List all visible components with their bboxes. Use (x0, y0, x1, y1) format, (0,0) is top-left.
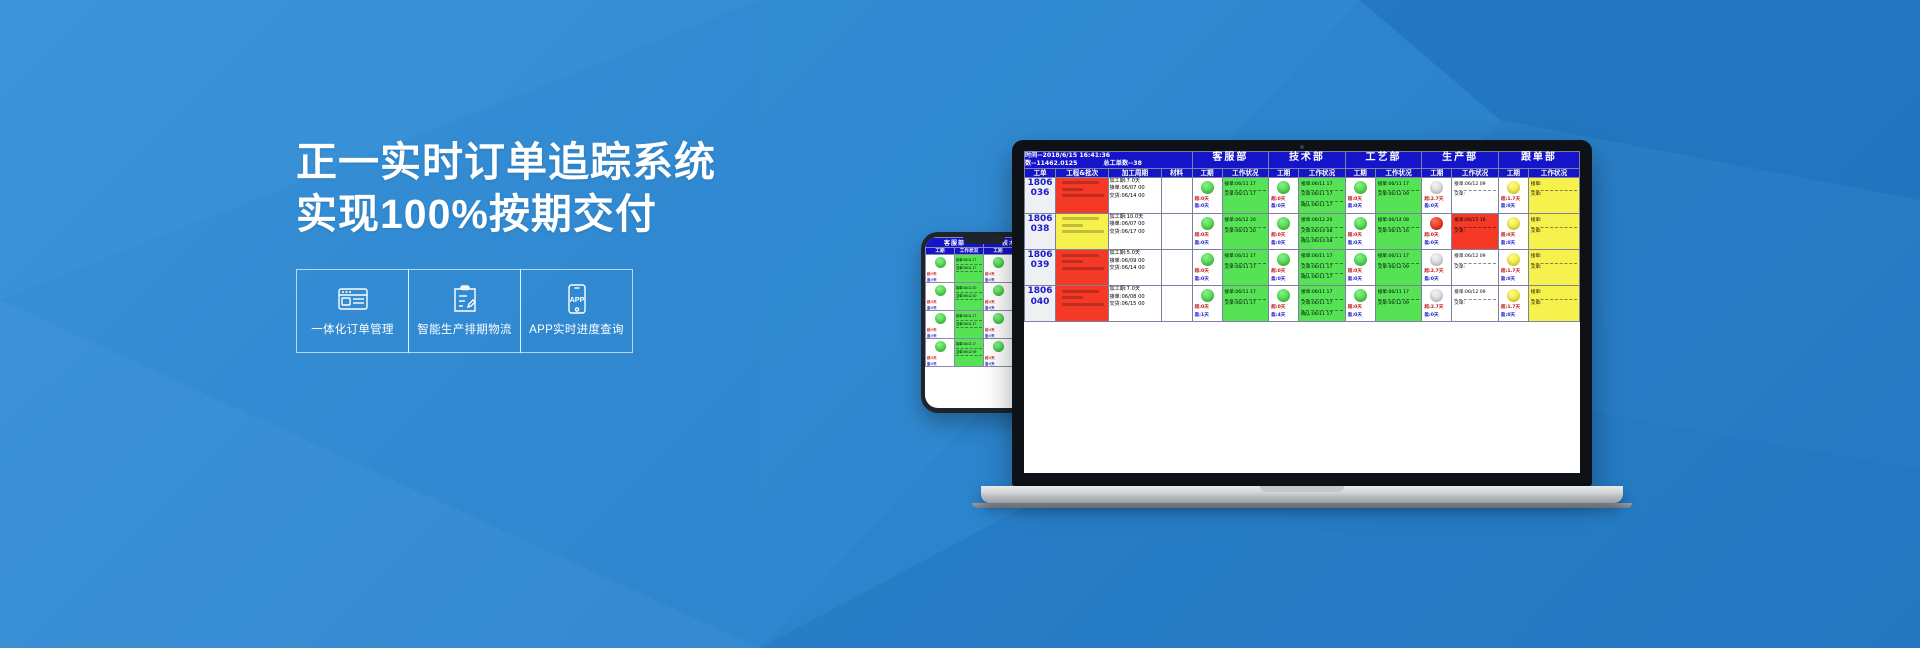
date-line: 接单:06/11 17 (1225, 289, 1267, 300)
id-card-icon (336, 284, 370, 314)
date-line: 接单:06/11 17 (956, 313, 982, 321)
order-id-line: 1806 (1025, 178, 1055, 188)
work-status-cell[interactable]: 接单:06/12 09交单: (1452, 250, 1499, 286)
duration-status-cell[interactable]: 超:0天盈:0天 (1269, 177, 1299, 213)
work-status-cell[interactable]: 接单:06/12 09交单: (1452, 286, 1499, 322)
feature-label: 一体化订单管理 (311, 321, 394, 337)
date-line: 接单:06/11 17 (1378, 253, 1420, 264)
date-line: 接单:06/11 17 (1301, 289, 1343, 300)
date-line: 交单: (1531, 300, 1577, 310)
over-tag: 超:0天 (1422, 232, 1451, 240)
status-dot-icon (1201, 181, 1214, 194)
phone-status-dot-cell: 超:0天 盈:0天 (926, 339, 955, 367)
feature-list: 一体化订单管理 智能生产排期物流 (296, 269, 716, 353)
date-line: 接单: (1531, 289, 1577, 300)
remain-tag: 盈:4天 (1269, 312, 1298, 320)
date-line: 交单:06/11 17 (956, 265, 982, 273)
dept-header-production: 生产部 (1422, 152, 1499, 169)
remain-tag: 盈:0天 (1422, 276, 1451, 284)
order-id-cell: 1806040 (1025, 286, 1056, 322)
feature-label: APP实时进度查询 (529, 321, 624, 337)
over-tag: 超:1.7天 (1499, 304, 1528, 312)
dept-header-craft: 工艺部 (1345, 152, 1422, 169)
project-batch-cell (1056, 177, 1109, 213)
table-row[interactable]: 1806039加工期:5.0天接单:06/09 00交货:06/14 00超:0… (1025, 250, 1580, 286)
order-id-cell: 1806039 (1025, 250, 1056, 286)
dept-header-customer-service: 客服部 (1192, 152, 1269, 169)
duration-status-cell[interactable]: 超:0天盈:4天 (1269, 286, 1299, 322)
svg-text:APP: APP (569, 295, 584, 304)
status-dot-icon (1201, 217, 1214, 230)
phone-status-dot-cell: 超:0天 盈:0天 (926, 255, 955, 283)
phone-dates-cell: 接单:06/11 17 交单:06/11 17 (955, 255, 984, 283)
col-header-status: 工作状况 (1452, 168, 1499, 177)
date-line: 接单:06/14 08 (1378, 217, 1420, 228)
work-status-cell[interactable]: 接单:交单: (1528, 286, 1579, 322)
over-tag: 超:0天 (1193, 268, 1222, 276)
phone-dates-cell: 接单:06/11 17 交单:06/11 17 (955, 311, 984, 339)
col-header-status: 工作状况 (1299, 168, 1346, 177)
duration-status-cell[interactable]: 超:0天盈:0天 (1269, 250, 1299, 286)
hero-copy: 正一实时订单追踪系统 实现100%按期交付 一体化订单管理 (296, 136, 716, 353)
remain-tag: 盈:1天 (1193, 312, 1222, 320)
material-cell (1161, 213, 1192, 249)
cycle-line: 加工期:5.0天 (1109, 250, 1160, 258)
work-status-cell[interactable]: 接单:06/15 16交单: (1452, 213, 1499, 249)
phone-col-header: 工期 (984, 248, 1013, 255)
date-line: 接单:06/12 09 (1454, 181, 1496, 192)
order-id-line: 036 (1025, 188, 1055, 198)
date-line: 交单:06/14 08 (1301, 228, 1343, 239)
col-header-project-batch: 工程&批次 (1056, 168, 1109, 177)
work-status-cell[interactable]: 接单:交单: (1528, 250, 1579, 286)
date-line: 交单:06/11 17 (1301, 264, 1343, 275)
date-line: 接单: (1531, 253, 1577, 264)
remain-tag: 盈:0天 (1346, 203, 1375, 211)
order-id-line: 1806 (1025, 214, 1055, 224)
duration-status-cell[interactable]: 超:1.7天盈:0天 (1498, 286, 1528, 322)
remain-tag: 盈:0天 (1499, 276, 1528, 284)
order-id-cell: 1806038 (1025, 213, 1056, 249)
date-line: 确认:06/11 17 (1301, 311, 1343, 321)
date-line: 接单:06/11 17 (1378, 289, 1420, 300)
over-tag: 超:1.7天 (1499, 196, 1528, 204)
material-cell (1161, 177, 1192, 213)
over-tag: 超:0天 (1193, 196, 1222, 204)
status-dot-icon (1430, 289, 1443, 302)
status-dot-icon (1354, 253, 1367, 266)
work-status-cell[interactable]: 接单:06/12 20交单:06/12 20 (1222, 213, 1269, 249)
duration-status-cell[interactable]: 超:1.7天盈:0天 (1498, 177, 1528, 213)
over-tag: 超:0天 (1346, 304, 1375, 312)
work-status-cell[interactable]: 接单:06/12 09交单: (1452, 177, 1499, 213)
col-header-duration: 工期 (1345, 168, 1375, 177)
material-cell (1161, 286, 1192, 322)
remain-tag: 盈:0天 (1346, 240, 1375, 248)
remain-tag: 盈:0天 (1499, 312, 1528, 320)
status-dot-icon (1430, 253, 1443, 266)
remain-tag: 盈:0天 (1193, 240, 1222, 248)
date-line: 接单:06/11 17 (1301, 181, 1343, 192)
webcam-icon (1300, 145, 1304, 149)
work-status-cell[interactable]: 接单:06/11 17交单:06/11 17 (1222, 250, 1269, 286)
cycle-line: 交货:06/14 00 (1109, 265, 1160, 273)
col-header-duration: 工期 (1422, 168, 1452, 177)
col-header-status: 工作状况 (1375, 168, 1422, 177)
phone-dates-cell: 接单:06/11 17 交单:06/12 09 (955, 339, 984, 367)
status-dot-icon (1354, 217, 1367, 230)
work-status-cell[interactable]: 接单:06/14 08交单:06/15 16 (1375, 213, 1422, 249)
over-tag: 超:0天 (1269, 268, 1298, 276)
cycle-line: 接单:06/09 00 (1109, 258, 1160, 266)
duration-status-cell[interactable]: 超:1.7天盈:0天 (1498, 250, 1528, 286)
date-line: 交单:06/11 17 (956, 321, 982, 329)
project-batch-cell (1056, 250, 1109, 286)
remain-tag: 盈:0天 (1346, 312, 1375, 320)
phone-col-header: 工期 (926, 248, 955, 255)
headline-line-2: 实现100%按期交付 (296, 188, 716, 240)
page-title: 正一实时订单追踪系统 实现100%按期交付 (296, 136, 716, 241)
work-status-cell[interactable]: 接单:06/11 17交单:06/12 09 (1375, 286, 1422, 322)
date-line: 接单: (1531, 217, 1577, 228)
over-tag: 超:0天 (1269, 196, 1298, 204)
date-line: 交单:06/12 09 (1378, 300, 1420, 310)
status-dot-green-icon (935, 257, 946, 268)
date-line: 交单: (1531, 264, 1577, 274)
feature-item-app-progress-query[interactable]: APP APP实时进度查询 (520, 269, 633, 353)
remain-tag: 盈:0天 (926, 304, 954, 310)
feature-item-order-management[interactable]: 一体化订单管理 (296, 269, 409, 353)
over-tag: 超:0天 (1269, 232, 1298, 240)
laptop-screen[interactable]: 时间--2018/6/15 16:41:36 数--11462.0125 总工单… (1024, 151, 1580, 473)
date-line: 接单:06/12 09 (1454, 289, 1496, 300)
table-row[interactable]: 1806038加工期:10.0天接单:06/07 00交货:06/17 00超:… (1025, 213, 1580, 249)
work-status-cell[interactable]: 接单:交单: (1528, 213, 1579, 249)
dashboard-meta-cell: 时间--2018/6/15 16:41:36 数--11462.0125 总工单… (1025, 152, 1193, 169)
remain-tag: 盈:0天 (1193, 276, 1222, 284)
date-line: 交单:06/12 09 (1378, 191, 1420, 201)
date-line: 接单:06/11 17 (1378, 181, 1420, 192)
date-line: 确认:06/11 17 (1301, 274, 1343, 284)
duration-status-cell[interactable]: 超:2.7天盈:0天 (1422, 286, 1452, 322)
duration-status-cell[interactable]: 超:0天盈:0天 (1192, 213, 1222, 249)
laptop-base (981, 486, 1623, 503)
table-row[interactable]: 1806040加工期:7.0天接单:06/08 00交货:06/15 00超:0… (1025, 286, 1580, 322)
work-status-cell[interactable]: 接单:06/11 17交单:06/11 17确认:06/11 17 (1299, 286, 1346, 322)
processing-cycle-cell: 加工期:7.0天接单:06/07 00交货:06/14 00 (1109, 177, 1161, 213)
project-batch-cell (1056, 286, 1109, 322)
status-dot-green-icon (935, 341, 946, 352)
col-header-status: 工作状况 (1222, 168, 1269, 177)
work-status-cell[interactable]: 接单:交单: (1528, 177, 1579, 213)
date-line: 交单:06/11 17 (1225, 264, 1267, 274)
status-dot-icon (1354, 181, 1367, 194)
duration-status-cell[interactable]: 超:0天盈:0天 (1269, 213, 1299, 249)
over-tag: 超:0天 (1269, 304, 1298, 312)
date-line: 交单: (1454, 300, 1496, 310)
mobile-app-icon: APP (560, 284, 594, 314)
date-line: 接单:06/11 17 (956, 257, 982, 265)
date-line: 接单:06/15 16 (1454, 217, 1496, 228)
phone-status-dot-cell: 超:0天 盈:0天 (984, 311, 1013, 339)
order-id-line: 040 (1025, 297, 1055, 307)
date-line: 交单: (1531, 228, 1577, 238)
over-tag: 超:2.7天 (1422, 196, 1451, 204)
laptop-foot (972, 503, 1632, 508)
processing-cycle-cell: 加工期:5.0天接单:06/09 00交货:06/14 00 (1109, 250, 1161, 286)
date-line: 交单: (1531, 191, 1577, 201)
remain-tag: 盈:0天 (1269, 240, 1298, 248)
remain-tag: 盈:0天 (1346, 276, 1375, 284)
order-id-line: 1806 (1025, 250, 1055, 260)
remain-tag: 盈:0天 (1422, 203, 1451, 211)
order-table-body: 1806036加工期:7.0天接单:06/07 00交货:06/14 00超:0… (1025, 177, 1580, 322)
dashboard-meta-row: 时间--2018/6/15 16:41:36 数--11462.0125 总工单… (1025, 152, 1580, 169)
dashboard-total-label: 总工单数--38 (1103, 160, 1142, 168)
remain-tag: 盈:0天 (984, 304, 1012, 310)
status-dot-icon (1201, 289, 1214, 302)
work-status-cell[interactable]: 接单:06/11 17交单:06/12 09 (1375, 177, 1422, 213)
status-dot-icon (1507, 289, 1520, 302)
status-dot-icon (1354, 289, 1367, 302)
remain-tag: 盈:0天 (1499, 203, 1528, 211)
status-dot-icon (1430, 217, 1443, 230)
remain-tag: 盈:0天 (984, 276, 1012, 282)
order-id-line: 1806 (1025, 286, 1055, 296)
status-dot-icon (1507, 253, 1520, 266)
material-cell (1161, 250, 1192, 286)
col-header-status: 工作状况 (1528, 168, 1579, 177)
table-row[interactable]: 1806036加工期:7.0天接单:06/07 00交货:06/14 00超:0… (1025, 177, 1580, 213)
col-header-duration: 工期 (1498, 168, 1528, 177)
cycle-line: 接单:06/07 00 (1109, 221, 1160, 229)
dashboard-count-label: 数--11462.0125 (1025, 160, 1077, 168)
remain-tag: 盈:0天 (926, 332, 954, 338)
date-line: 交单:06/11 17 (1225, 191, 1267, 201)
status-dot-green-icon (935, 285, 946, 296)
date-line: 交单: (1454, 191, 1496, 201)
duration-status-cell[interactable]: 超:0天盈:0天 (1345, 213, 1375, 249)
phone-dates-cell: 接单:06/12 20 交单:06/12 20 (955, 283, 984, 311)
duration-status-cell[interactable]: 超:0天盈:0天 (1192, 177, 1222, 213)
date-line: 接单:06/12 20 (956, 285, 982, 293)
col-header-cycle: 加工周期 (1109, 168, 1161, 177)
order-id-line: 039 (1025, 260, 1055, 270)
remain-tag: 盈:0天 (1499, 240, 1528, 248)
over-tag: 超:0天 (1193, 232, 1222, 240)
remain-tag: 盈:0天 (1269, 276, 1298, 284)
over-tag: 超:2.7天 (1422, 304, 1451, 312)
status-dot-icon (1277, 253, 1290, 266)
order-tracking-dashboard: 时间--2018/6/15 16:41:36 数--11462.0125 总工单… (1024, 151, 1580, 322)
status-dot-green-icon (993, 257, 1004, 268)
duration-status-cell[interactable]: 超:0天盈:0天 (1422, 213, 1452, 249)
laptop-device: 时间--2018/6/15 16:41:36 数--11462.0125 总工单… (1012, 140, 1592, 508)
phone-status-dot-cell: 超:0天 盈:0天 (926, 283, 955, 311)
work-status-cell[interactable]: 接单:06/11 17交单:06/12 09 (1375, 250, 1422, 286)
status-dot-green-icon (993, 313, 1004, 324)
duration-status-cell[interactable]: 超:0天盈:0天 (1498, 213, 1528, 249)
status-dot-icon (1277, 289, 1290, 302)
date-line: 接单:06/11 17 (1301, 253, 1343, 264)
remain-tag: 盈:0天 (984, 332, 1012, 338)
duration-status-cell[interactable]: 超:0天盈:0天 (1192, 250, 1222, 286)
remain-tag: 盈:0天 (926, 360, 954, 366)
project-batch-cell (1056, 213, 1109, 249)
col-header-order: 工单 (1025, 168, 1056, 177)
over-tag: 超:0天 (1346, 196, 1375, 204)
remain-tag: 盈:0天 (1269, 203, 1298, 211)
status-dot-green-icon (935, 313, 946, 324)
work-status-cell[interactable]: 接单:06/11 17交单:06/11 17确认:06/11 17 (1299, 177, 1346, 213)
dashboard-time-label: 时间--2018/6/15 16:41:36 (1025, 152, 1192, 160)
feature-item-production-scheduling[interactable]: 智能生产排期物流 (408, 269, 521, 353)
date-line: 接单:06/11 17 (1225, 181, 1267, 192)
work-status-cell[interactable]: 接单:06/12 20交单:06/14 08确认:06/14 08 (1299, 213, 1346, 249)
work-status-cell[interactable]: 接单:06/11 17交单:06/11 17 (1222, 286, 1269, 322)
duration-status-cell[interactable]: 超:0天盈:1天 (1192, 286, 1222, 322)
remain-tag: 盈:0天 (984, 360, 1012, 366)
laptop-lid: 时间--2018/6/15 16:41:36 数--11462.0125 总工单… (1012, 140, 1592, 486)
processing-cycle-cell: 加工期:7.0天接单:06/08 00交货:06/15 00 (1109, 286, 1161, 322)
cycle-line: 加工期:7.0天 (1109, 286, 1160, 294)
date-line: 确认:06/11 17 (1301, 202, 1343, 212)
date-line: 交单:06/12 09 (1378, 264, 1420, 274)
clipboard-list-icon (448, 284, 482, 314)
status-dot-icon (1507, 217, 1520, 230)
cycle-line: 交货:06/15 00 (1109, 301, 1160, 309)
over-tag: 超:1.7天 (1499, 268, 1528, 276)
date-line: 接单: (1531, 181, 1577, 192)
dashboard-column-header-row: 工单 工程&批次 加工周期 材料 工期 工作状况 工期 工作状况 工期 工作状况… (1025, 168, 1580, 177)
date-line: 交单:06/15 16 (1378, 228, 1420, 238)
duration-status-cell[interactable]: 超:2.7天盈:0天 (1422, 177, 1452, 213)
over-tag: 超:0天 (1499, 232, 1528, 240)
phone-notch (963, 237, 1005, 244)
remain-tag: 盈:0天 (1422, 240, 1451, 248)
col-header-material: 材料 (1161, 168, 1192, 177)
phone-col-header: 工作状况 (955, 248, 984, 255)
cycle-line: 交货:06/14 00 (1109, 193, 1160, 201)
status-dot-icon (1277, 217, 1290, 230)
date-line: 交单:06/11 17 (1301, 191, 1343, 202)
status-dot-icon (1507, 181, 1520, 194)
col-header-duration: 工期 (1192, 168, 1222, 177)
date-line: 接单:06/12 09 (1454, 253, 1496, 264)
date-line: 接单:06/11 17 (956, 341, 982, 349)
over-tag: 超:0天 (1193, 304, 1222, 312)
date-line: 交单:06/12 20 (956, 293, 982, 301)
date-line: 交单:06/12 20 (1225, 228, 1267, 238)
date-line: 交单:06/12 09 (956, 349, 982, 357)
remain-tag: 盈:0天 (1422, 312, 1451, 320)
phone-status-dot-cell: 超:0天 盈:0天 (984, 283, 1013, 311)
dept-header-merchandising: 跟单部 (1498, 152, 1579, 169)
order-id-cell: 1806036 (1025, 177, 1056, 213)
date-line: 接单:06/12 20 (1225, 217, 1267, 228)
status-dot-icon (1277, 181, 1290, 194)
dept-header-technology: 技术部 (1269, 152, 1346, 169)
cycle-line: 接单:06/07 00 (1109, 185, 1160, 193)
status-dot-green-icon (993, 341, 1004, 352)
order-table: 时间--2018/6/15 16:41:36 数--11462.0125 总工单… (1024, 151, 1580, 322)
over-tag: 超:0天 (1346, 232, 1375, 240)
remain-tag: 盈:0天 (926, 276, 954, 282)
phone-status-dot-cell: 超:0天 盈:0天 (926, 311, 955, 339)
duration-status-cell[interactable]: 超:2.7天盈:0天 (1422, 250, 1452, 286)
date-line: 交单:06/11 17 (1225, 300, 1267, 310)
date-line: 交单:06/11 17 (1301, 300, 1343, 311)
duration-status-cell[interactable]: 超:0天盈:0天 (1345, 250, 1375, 286)
work-status-cell[interactable]: 接单:06/11 17交单:06/11 17确认:06/11 17 (1299, 250, 1346, 286)
col-header-duration: 工期 (1269, 168, 1299, 177)
processing-cycle-cell: 加工期:10.0天接单:06/07 00交货:06/17 00 (1109, 213, 1161, 249)
feature-label: 智能生产排期物流 (417, 321, 511, 337)
status-dot-icon (1430, 181, 1443, 194)
work-status-cell[interactable]: 接单:06/11 17交单:06/11 17 (1222, 177, 1269, 213)
duration-status-cell[interactable]: 超:0天盈:0天 (1345, 286, 1375, 322)
duration-status-cell[interactable]: 超:0天盈:0天 (1345, 177, 1375, 213)
headline-line-1: 正一实时订单追踪系统 (296, 139, 716, 185)
order-id-line: 038 (1025, 224, 1055, 234)
phone-status-dot-cell: 超:0天 盈:0天 (984, 255, 1013, 283)
over-tag: 超:2.7天 (1422, 268, 1451, 276)
cycle-line: 交货:06/17 00 (1109, 229, 1160, 237)
remain-tag: 盈:0天 (1193, 203, 1222, 211)
status-dot-green-icon (993, 285, 1004, 296)
status-dot-icon (1201, 253, 1214, 266)
date-line: 接单:06/12 20 (1301, 217, 1343, 228)
date-line: 确认:06/14 08 (1301, 238, 1343, 248)
over-tag: 超:0天 (1346, 268, 1375, 276)
date-line: 交单: (1454, 228, 1496, 238)
date-line: 接单:06/11 17 (1225, 253, 1267, 264)
date-line: 交单: (1454, 264, 1496, 274)
phone-status-dot-cell: 超:0天 盈:0天 (984, 339, 1013, 367)
